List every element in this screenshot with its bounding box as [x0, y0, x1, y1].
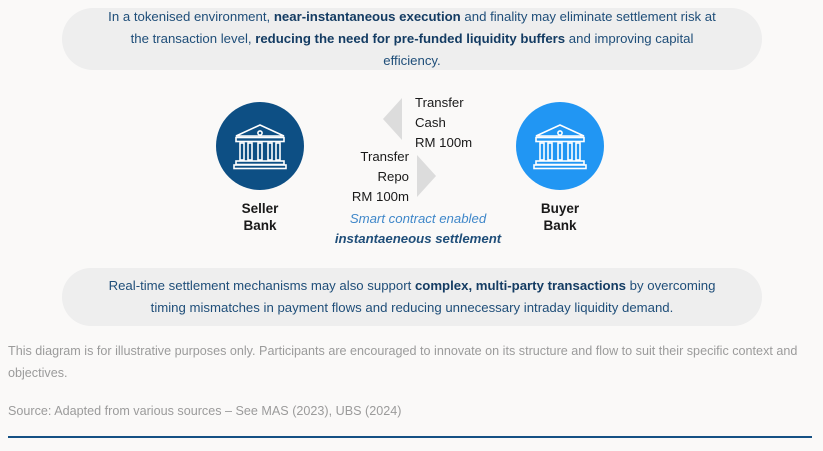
bottom-callout-box: Real-time settlement mechanisms may also… — [62, 268, 762, 326]
transfer-repo-line2: Repo — [337, 167, 409, 187]
transfer-cash-line3: RM 100m — [415, 133, 472, 153]
transfer-repo-label: Transfer Repo RM 100m — [337, 147, 409, 207]
seller-bank-label: Seller Bank — [185, 200, 335, 234]
smart-contract-note-line2: instantaeneous settlement — [323, 229, 513, 249]
seller-bank-label-line2: Bank — [185, 217, 335, 234]
smart-contract-note-line1: Smart contract enabled — [323, 209, 513, 229]
transfer-repo-line1: Transfer — [337, 147, 409, 167]
transfer-cash-line2: Cash — [415, 113, 472, 133]
disclaimer-text: This diagram is for illustrative purpose… — [8, 340, 798, 384]
bottom-callout-text: Real-time settlement mechanisms may also… — [62, 275, 762, 319]
bottom-divider — [8, 436, 812, 438]
smart-contract-note: Smart contract enabled instantaeneous se… — [323, 209, 513, 249]
top-callout-box: In a tokenised environment, near-instant… — [62, 8, 762, 70]
bank-building-icon — [533, 122, 587, 170]
arrow-right-icon — [417, 155, 436, 197]
arrow-left-icon — [383, 98, 402, 140]
settlement-flow-diagram: Seller Bank Buye — [0, 85, 823, 255]
buyer-bank-circle — [516, 102, 604, 190]
bank-building-icon — [233, 122, 287, 170]
seller-bank-node[interactable]: Seller Bank — [185, 102, 335, 234]
transfer-cash-label: Transfer Cash RM 100m — [415, 93, 472, 153]
transfer-repo-line3: RM 100m — [337, 187, 409, 207]
source-text: Source: Adapted from various sources – S… — [8, 400, 798, 422]
transfer-cash-line1: Transfer — [415, 93, 472, 113]
seller-bank-label-line1: Seller — [185, 200, 335, 217]
top-callout-text: In a tokenised environment, near-instant… — [62, 6, 762, 72]
seller-bank-circle — [216, 102, 304, 190]
